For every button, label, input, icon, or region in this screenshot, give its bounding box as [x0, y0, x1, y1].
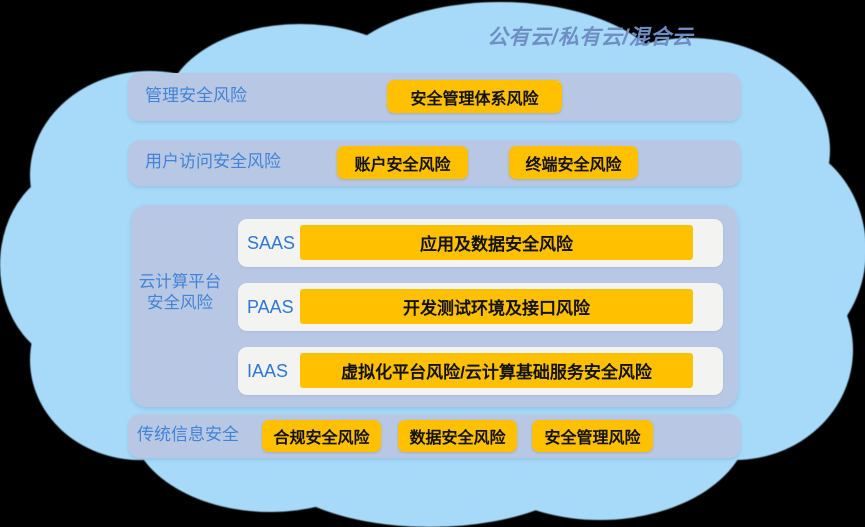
- chip-compliance-security-risk[interactable]: 合规安全风险: [262, 420, 381, 452]
- chip-application-and-data-security-risk[interactable]: 应用及数据安全风险: [300, 225, 693, 260]
- chip-security-management-system-risk[interactable]: 安全管理体系风险: [387, 80, 562, 113]
- chip-terminal-security-risk[interactable]: 终端安全风险: [509, 146, 638, 179]
- layer-tag-saas: SAAS: [247, 233, 295, 254]
- row-label-management-security-risk: 管理安全风险: [145, 86, 247, 107]
- layer-tag-paas: PAAS: [247, 297, 294, 318]
- chip-security-management-risk[interactable]: 安全管理风险: [532, 420, 653, 452]
- platform-label-line1: 云计算平台: [133, 272, 227, 292]
- chip-virtualization-platform-and-infrastructure-service-risk[interactable]: 虚拟化平台风险/云计算基础服务安全风险: [300, 353, 693, 388]
- chip-account-security-risk[interactable]: 账户安全风险: [337, 146, 468, 179]
- row-label-user-access-security-risk: 用户访问安全风险: [145, 152, 281, 173]
- chip-dev-test-environment-and-interface-risk[interactable]: 开发测试环境及接口风险: [300, 289, 693, 324]
- chip-data-security-risk[interactable]: 数据安全风险: [398, 420, 517, 452]
- cloud-title: 公有云/私有云/混合云: [487, 21, 693, 51]
- row-label-traditional-information-security: 传统信息安全: [137, 425, 239, 446]
- platform-label-line2: 安全风险: [133, 293, 227, 313]
- layer-tag-iaas: IAAS: [247, 361, 288, 382]
